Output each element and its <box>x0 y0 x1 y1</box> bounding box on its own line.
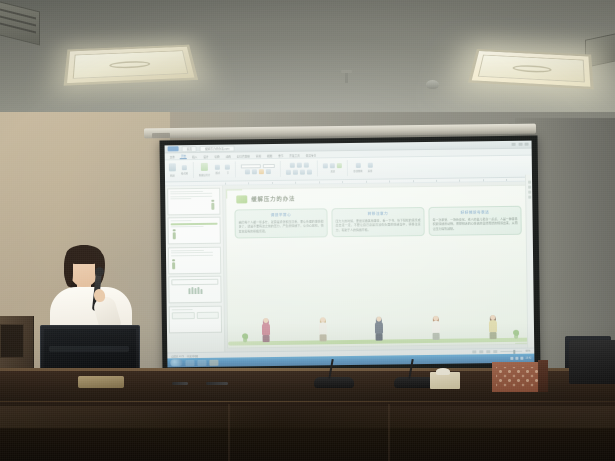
ribbon-group-font[interactable] <box>241 164 275 175</box>
align-right-icon[interactable] <box>300 169 305 174</box>
taskbar-item-wps-office[interactable] <box>209 359 218 365</box>
slide-card-3: 好好倾诉与表达 每一次承受、一场新变化、老人的妻儿老身一点点，人是一种容易积累情… <box>428 205 521 236</box>
illustration-person-2 <box>316 317 329 341</box>
person-1-body <box>262 323 270 335</box>
zoom-level: 66% <box>525 350 530 353</box>
shapes-panel-icon[interactable] <box>528 186 531 189</box>
ribbon-group-paragraph[interactable] <box>286 163 312 175</box>
font-name-field[interactable] <box>241 164 261 168</box>
gift-box <box>492 362 544 392</box>
arrange-icon[interactable] <box>330 163 335 168</box>
person-5-body <box>489 320 497 332</box>
ribbon-group-select[interactable]: 选择 <box>367 162 372 173</box>
media-icon[interactable] <box>528 196 531 199</box>
person-4-legs <box>433 333 440 340</box>
fill-icon[interactable] <box>337 163 342 168</box>
illustration-people <box>238 313 521 343</box>
person-3-legs <box>376 334 383 341</box>
close-icon[interactable] <box>525 143 529 146</box>
maximize-icon[interactable] <box>518 143 522 146</box>
thumb-figure-icon <box>171 259 176 270</box>
right-tool-strip[interactable] <box>525 175 534 348</box>
sprinkler-head-icon <box>345 72 348 83</box>
slide-card-1: 调适平常心 我们每个人都一年多忙，就算是紧张积压沉重，要让处理的事情很多了，就是… <box>234 208 327 239</box>
ribbon-separator-2 <box>235 161 236 177</box>
ribbon-tab-slideshow[interactable]: 幻灯片放映 <box>236 154 251 158</box>
slide-thumbnail-1-body <box>168 188 219 214</box>
table-seam-left <box>228 404 230 461</box>
ribbon-separator-3 <box>280 161 281 177</box>
slide-thumbnail-5[interactable]: 5 <box>169 305 222 333</box>
slide-thumbnail-3-body <box>169 247 220 273</box>
document-tab-home[interactable]: 首页 <box>182 145 197 151</box>
gift-box-side <box>538 360 548 392</box>
illustration-person-4 <box>429 316 442 340</box>
select-icon[interactable] <box>367 162 372 167</box>
table-seam-right <box>388 404 390 461</box>
ribbon-group-format-painter[interactable]: 格式刷 <box>181 165 188 176</box>
lectern-panel <box>0 324 24 358</box>
ribbon-group-format-painter-label: 格式刷 <box>181 171 188 175</box>
line-spacing-icon[interactable] <box>307 169 312 174</box>
slide-thumbnail-4-active[interactable]: 4 <box>168 276 221 304</box>
plant-icon-right <box>513 330 519 339</box>
pen <box>172 382 188 385</box>
taskbar-item-file-explorer[interactable] <box>185 360 194 366</box>
start-button[interactable] <box>170 359 182 366</box>
find-icon[interactable] <box>355 163 360 168</box>
align-left-icon[interactable] <box>286 170 291 175</box>
document-tab-current[interactable]: 缓解压力的办法.pptx <box>200 145 235 151</box>
minimize-icon[interactable] <box>512 143 516 146</box>
slide-thumbnail-2[interactable]: 2 <box>168 217 221 245</box>
titlebar-spacer <box>238 144 509 148</box>
thumb-two-column <box>172 311 219 319</box>
ribbon-group-shapes[interactable]: 形状 <box>323 163 342 174</box>
wps-logo-icon <box>168 146 179 152</box>
thumb-figure-icon <box>172 229 177 240</box>
thumb-line <box>171 254 213 256</box>
presenter-hair-left <box>64 253 73 287</box>
ribbon-tab-design[interactable]: 设计 <box>202 154 209 158</box>
paste-icon[interactable] <box>169 164 176 172</box>
ceiling <box>0 0 615 124</box>
slide-corner-decoration-topleft <box>226 189 242 198</box>
indent-icon[interactable] <box>304 163 309 168</box>
bullets-icon[interactable] <box>290 163 295 168</box>
input-method-icon[interactable] <box>520 357 523 360</box>
shapes-row[interactable] <box>323 163 342 168</box>
paragraph-row-2[interactable] <box>286 169 312 174</box>
slide-title: 缓解压力的办法 <box>251 194 295 203</box>
paragraph-row-1[interactable] <box>290 163 309 168</box>
ribbon-group-paste[interactable]: 粘贴 <box>169 164 176 178</box>
window-controls[interactable] <box>512 143 529 146</box>
slide-thumbnail-3[interactable]: 3 <box>168 246 221 274</box>
slide-canvas[interactable]: 缓解压力的办法 调适平常心 我们每个人都一年多忙，就算是紧张积压沉重，要让处理的… <box>225 184 532 348</box>
person-2-legs <box>319 334 326 341</box>
numbering-icon[interactable] <box>297 163 302 168</box>
reading-view-button[interactable] <box>486 350 490 354</box>
ribbon-tab-review[interactable]: 审阅 <box>255 154 262 158</box>
presentation-app-window: 首页 缓解压力的办法.pptx 文件 开始 插入 设计 切换 <box>165 141 535 368</box>
slide-thumbnail-panel[interactable]: 1 2 <box>165 185 225 352</box>
properties-icon[interactable] <box>528 181 531 184</box>
sorter-view-button[interactable] <box>479 350 483 354</box>
ribbon-separator-5 <box>347 160 348 176</box>
system-tray[interactable]: 15:42 <box>510 357 531 360</box>
projector-screen-bracket <box>152 133 170 138</box>
thumb-line <box>170 195 212 197</box>
ribbon-group-layout[interactable]: 版式 <box>215 164 220 175</box>
taskbar-item-browser[interactable] <box>197 359 206 365</box>
ribbon-separator-4 <box>317 160 318 176</box>
volume-icon[interactable] <box>515 357 518 360</box>
ribbon-tab-view[interactable]: 视图 <box>266 153 273 157</box>
font-color-icon[interactable] <box>259 169 264 174</box>
thumb-people-illustration-icon <box>171 287 218 295</box>
slide-thumbnail-1[interactable]: 1 <box>167 187 220 215</box>
ribbon-group-section-label: 节 <box>227 171 229 175</box>
normal-view-button[interactable] <box>472 350 476 354</box>
bold-icon[interactable] <box>245 170 250 175</box>
thumb-line <box>170 198 191 199</box>
slide-card-3-heading: 好好倾诉与表达 <box>432 209 517 215</box>
desk-monitor-left <box>40 325 140 373</box>
projection-screen-surface: 首页 缓解压力的办法.pptx 文件 开始 插入 设计 切换 <box>165 141 535 368</box>
font-style-row[interactable] <box>245 169 271 174</box>
illustration-person-3 <box>373 317 386 341</box>
ribbon-group-find[interactable]: 查找替换 <box>353 163 362 174</box>
slide-card-2-heading: 转移注意力 <box>335 211 420 217</box>
slide-thumbnail-2-body <box>169 218 220 244</box>
desk-monitor-left-glint <box>49 346 129 352</box>
ribbon-group-layout-label: 版式 <box>215 171 220 175</box>
thumb-card-row <box>171 279 218 286</box>
highlight-icon[interactable] <box>266 169 271 174</box>
desk-microphone-left <box>312 358 356 388</box>
ribbon-group-find-label: 查找替换 <box>353 169 362 173</box>
shapes-icon[interactable] <box>323 163 328 168</box>
format-painter-icon[interactable] <box>182 165 187 170</box>
ceiling-light-right <box>468 49 594 89</box>
projection-screen: 首页 缓解压力的办法.pptx 文件 开始 插入 设计 切换 <box>159 136 540 373</box>
slide-card-2: 转移注意力 压力大的时候，要尝试做其他事情，看一下书、听下轻松的音乐或出去走一走… <box>331 207 424 238</box>
conference-chair <box>569 340 615 384</box>
ribbon-tab-insert[interactable]: 插入 <box>191 154 198 158</box>
ribbon-group-new-slide[interactable]: 新建幻灯片 <box>199 163 211 177</box>
slide-card-1-heading: 调适平常心 <box>238 212 323 218</box>
thumb-accent-bar <box>171 222 218 225</box>
smoke-detector-icon <box>426 80 439 89</box>
person-1-legs <box>263 335 270 342</box>
table-clutter <box>78 376 124 388</box>
thumb-line <box>170 190 203 192</box>
ribbon-group-new-slide-label: 新建幻灯片 <box>199 173 211 177</box>
design-ideas-icon[interactable] <box>528 191 531 194</box>
tissue-box <box>430 372 460 389</box>
font-controls-row[interactable] <box>241 164 275 168</box>
ribbon-tab-section[interactable]: 章节 <box>277 153 284 157</box>
ribbon-tab-developer[interactable]: 开发工具 <box>288 153 300 157</box>
new-slide-icon[interactable] <box>201 163 208 171</box>
desk-microphone-left-base <box>314 377 354 388</box>
taskbar-clock[interactable]: 15:42 <box>525 357 531 360</box>
ribbon-separator-1 <box>193 162 194 178</box>
zoom-slider[interactable] <box>500 351 522 353</box>
font-size-field[interactable] <box>263 164 275 168</box>
ribbon-tab-animations[interactable]: 动画 <box>225 154 232 158</box>
person-3-body <box>375 322 383 334</box>
thumb-col-right <box>196 311 219 318</box>
person-2-body <box>319 322 327 334</box>
slide-illustration <box>228 310 531 348</box>
thumb-line <box>171 249 204 251</box>
thumb-line <box>171 225 204 227</box>
slide-cards: 调适平常心 我们每个人都一年多忙，就算是紧张积压沉重，要让处理的事情很多了，就是… <box>226 199 529 238</box>
person-4-body <box>432 321 440 333</box>
thumb-col-left <box>172 312 195 319</box>
ribbon-group-paste-label: 粘贴 <box>170 173 175 177</box>
ribbon-group-shapes-label: 形状 <box>330 169 335 173</box>
slide-thumbnail-5-body <box>170 306 221 332</box>
gift-box-pattern <box>496 367 540 388</box>
thumb-line <box>171 220 192 221</box>
align-center-icon[interactable] <box>293 169 298 174</box>
slide-card-3-body: 每一次承受、一场新变化、老人的妻儿老身一点点，人是一种容易积累情绪的动物，把想倾… <box>433 216 518 231</box>
front-table-sheen <box>0 406 615 428</box>
illustration-person-5 <box>486 315 499 339</box>
ribbon-tab-member[interactable]: 会员专享 <box>305 153 317 157</box>
slide-thumbnail-4-body <box>169 277 220 303</box>
ribbon-tab-home[interactable]: 开始 <box>180 154 187 159</box>
person-5-legs <box>489 332 496 339</box>
desk-microphone-right-base <box>394 377 434 388</box>
desk-microphone-right-gooseneck <box>408 359 413 379</box>
ribbon-tab-file[interactable]: 文件 <box>169 155 176 159</box>
ceiling-light-left <box>64 45 199 86</box>
ribbon-group-section[interactable]: 节 <box>225 164 230 175</box>
illustration-person-1 <box>260 318 273 342</box>
layout-icon[interactable] <box>215 164 220 169</box>
thumb-line <box>170 193 212 195</box>
slide-card-1-body: 我们每个人都一年多忙，就算是紧张积压沉重，要让处理的事情很多了，就是不要有这之前… <box>239 219 324 234</box>
slide-card-2-body: 压力大的时候，要尝试做其他事情，看一下书、听下轻松的音乐或出去走一走，不要让自己… <box>336 218 421 233</box>
thumb-figure-icon <box>210 199 215 210</box>
ribbon-group-select-label: 选择 <box>368 169 373 173</box>
thumb-line <box>171 252 213 254</box>
slideshow-view-button[interactable] <box>493 350 497 354</box>
italic-icon[interactable] <box>252 169 257 174</box>
network-icon[interactable] <box>510 357 513 360</box>
section-icon[interactable] <box>225 164 230 169</box>
slide-canvas-area: 缓解压力的办法 调适平常心 我们每个人都一年多忙，就算是紧张积压沉重，要让处理的… <box>223 181 534 352</box>
desk-microphone-left-gooseneck <box>328 359 333 379</box>
remote-control <box>206 382 228 385</box>
thumb-line <box>172 309 193 310</box>
editor-workarea: 1 2 <box>165 181 534 352</box>
conference-room-photo: 首页 缓解压力的办法.pptx 文件 开始 插入 设计 切换 <box>0 0 615 461</box>
ribbon-tab-transitions[interactable]: 切换 <box>213 154 220 158</box>
zoom-slider-handle[interactable] <box>513 349 515 353</box>
